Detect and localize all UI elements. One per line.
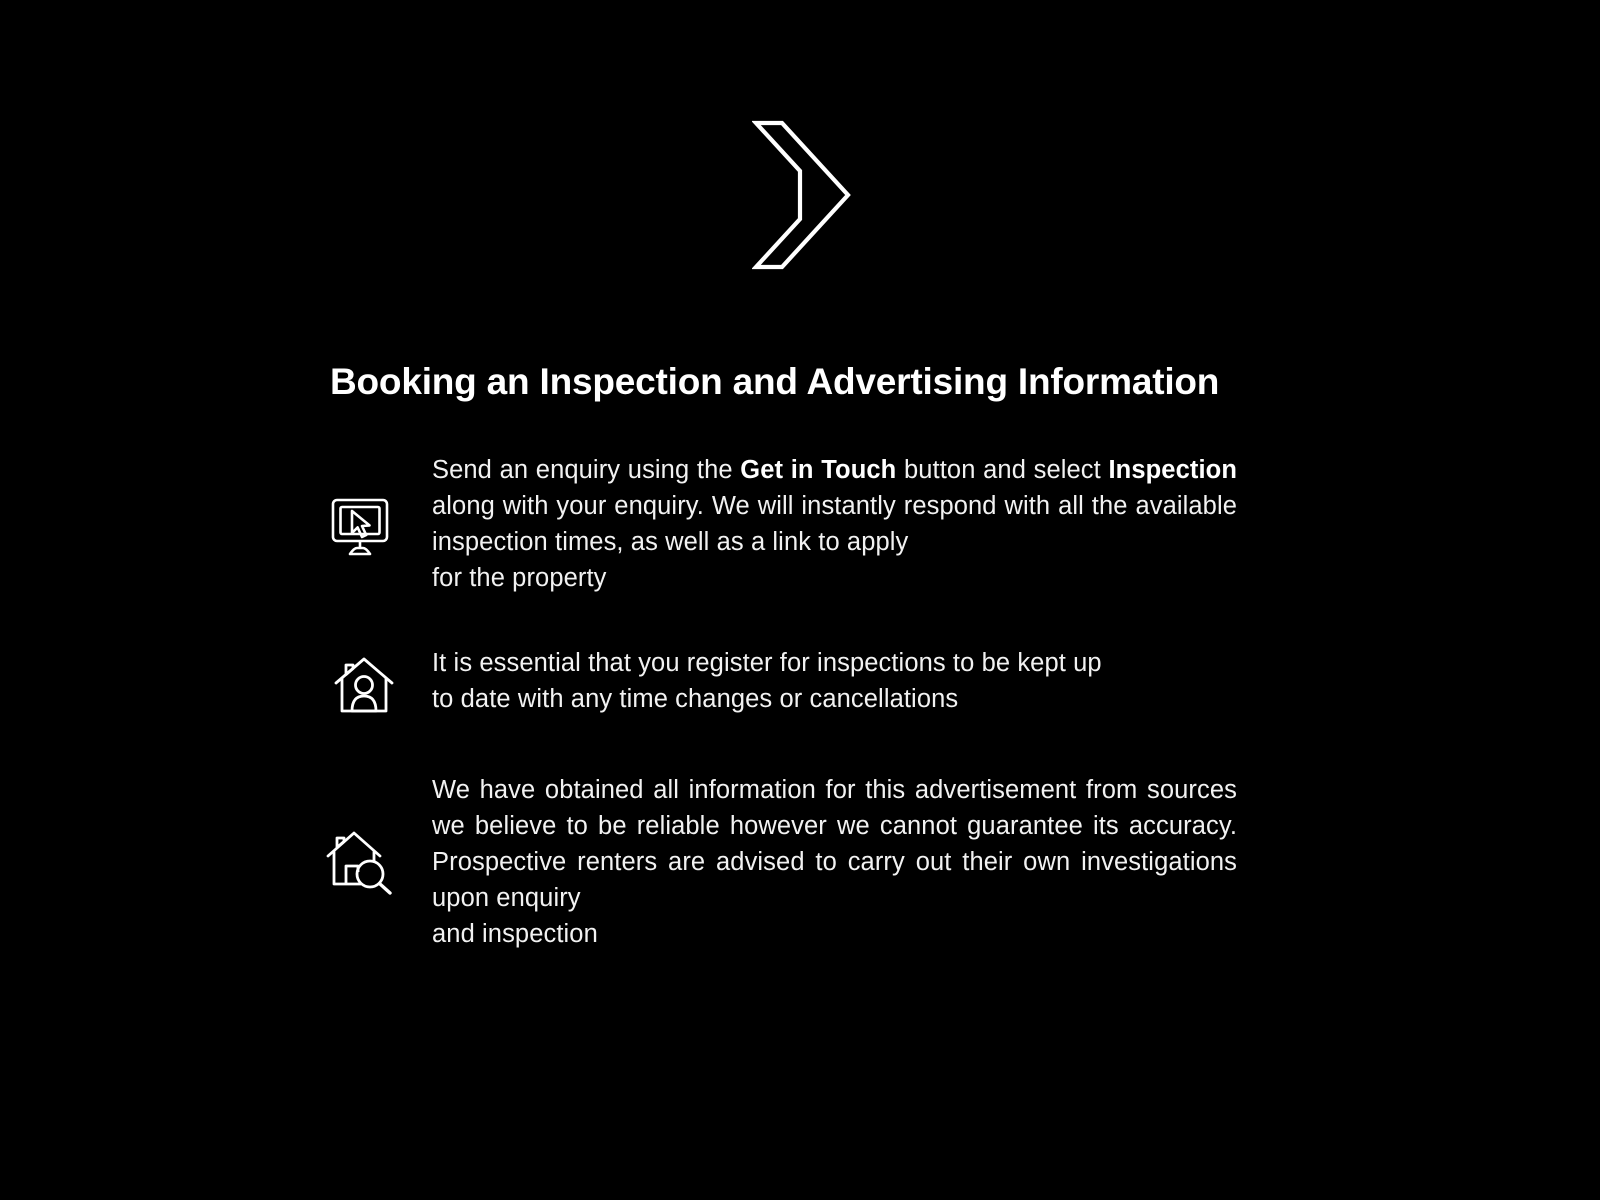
section-3-text-part-1: We have obtained all information for thi… — [432, 776, 1237, 912]
section-1-text-last-line: for the property — [432, 560, 1237, 596]
section-1-text-part-3: along with your enquiry. We will instant… — [432, 492, 1237, 556]
chevron-logo-icon — [752, 119, 852, 271]
section-3-text-last-line: and inspection — [432, 916, 1237, 952]
page-title: Booking an Inspection and Advertising In… — [330, 361, 1250, 404]
section-2-text: It is essential that you register for in… — [432, 645, 1237, 717]
monitor-cursor-icon — [324, 490, 396, 562]
page-root: Booking an Inspection and Advertising In… — [0, 0, 1600, 1200]
inspection-emphasis: Inspection — [1108, 456, 1237, 484]
section-register-inspections: It is essential that you register for in… — [0, 645, 1600, 717]
section-advertising-disclaimer: We have obtained all information for thi… — [0, 772, 1600, 952]
logo-container — [0, 112, 1600, 277]
section-1-text: Send an enquiry using the Get in Touch b… — [432, 452, 1237, 596]
house-magnifier-icon-wrap — [316, 826, 404, 896]
section-1-text-part-2: button and select — [896, 456, 1108, 484]
house-person-icon — [331, 652, 397, 718]
section-1-text-part-1: Send an enquiry using the — [432, 456, 740, 484]
house-magnifier-icon — [323, 826, 397, 896]
monitor-cursor-icon-wrap — [316, 490, 404, 562]
section-3-text: We have obtained all information for thi… — [432, 772, 1237, 952]
section-booking-enquiry: Send an enquiry using the Get in Touch b… — [0, 452, 1600, 596]
house-person-icon-wrap — [320, 652, 408, 718]
section-2-text-part-1: It is essential that you register for in… — [432, 649, 1102, 677]
get-in-touch-emphasis: Get in Touch — [740, 456, 896, 484]
content-sections: Send an enquiry using the Get in Touch b… — [0, 452, 1600, 952]
section-2-text-last-line: to date with any time changes or cancell… — [432, 681, 1237, 717]
